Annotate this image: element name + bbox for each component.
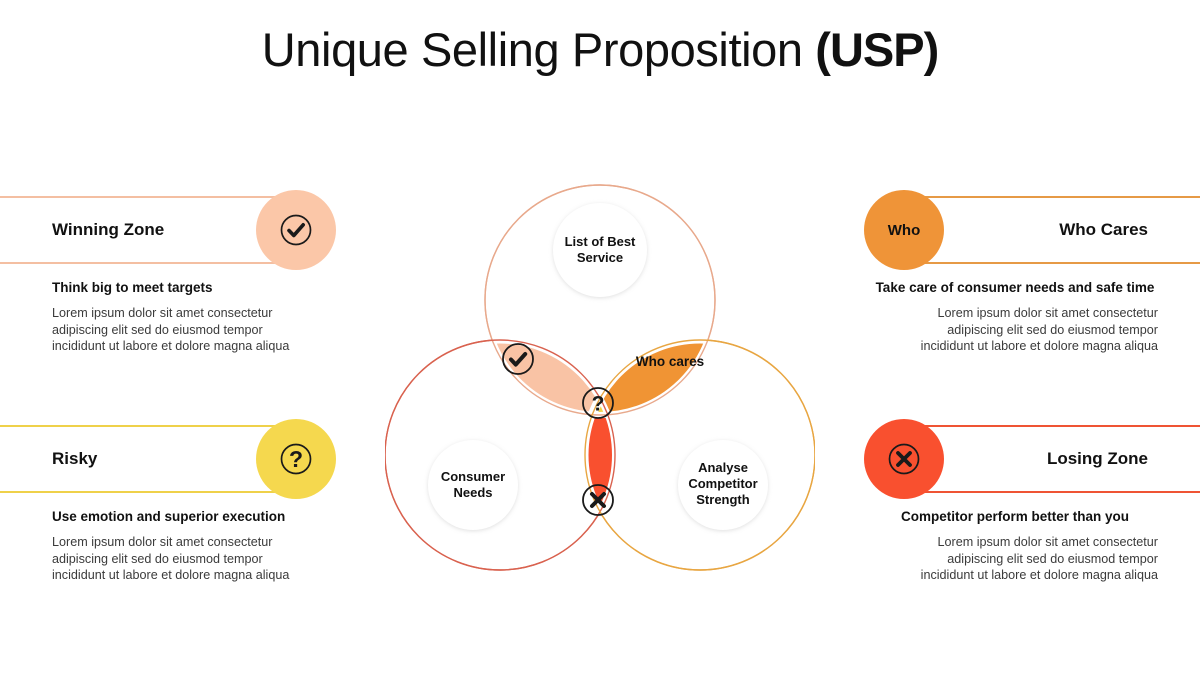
risky-body: Lorem ipsum dolor sit amet consectetur a… — [52, 534, 370, 584]
losing-zone-badge[interactable] — [864, 419, 944, 499]
winning-zone-badge[interactable] — [256, 190, 336, 270]
who-cares-badge-label: Who — [888, 222, 920, 239]
rule-bottom — [908, 262, 1200, 264]
rule-top — [908, 196, 1200, 198]
who-cares-subhead: Take care of consumer needs and safe tim… — [830, 280, 1200, 295]
venn-node-right-line3: Strength — [696, 492, 750, 507]
who-cares-body: Lorem ipsum dolor sit amet consectetur a… — [830, 305, 1158, 355]
venn-node-left-line1: Consumer — [441, 469, 505, 484]
winning-zone-subhead: Think big to meet targets — [52, 280, 370, 295]
page-title-main: Unique Selling Proposition — [262, 23, 816, 76]
who-cares-badge[interactable]: Who — [864, 190, 944, 270]
venn-node-top-line2: Service — [577, 250, 623, 265]
svg-text:?: ? — [592, 393, 605, 416]
risky-header: Risky ? — [0, 425, 370, 493]
x-circle-icon — [887, 442, 921, 476]
who-cares-title: Who Cares — [1059, 196, 1148, 264]
venn-node-right-line2: Competitor — [688, 476, 757, 491]
rule-bottom — [0, 491, 292, 493]
info-block-who-cares: Who Cares Who Take care of consumer need… — [830, 196, 1200, 355]
question-circle-icon: ? — [279, 442, 313, 476]
winning-zone-body: Lorem ipsum dolor sit amet consectetur a… — [52, 305, 370, 355]
svg-text:?: ? — [289, 446, 303, 472]
winning-zone-header: Winning Zone — [0, 196, 370, 264]
losing-zone-title: Losing Zone — [1047, 425, 1148, 493]
losing-zone-header: Losing Zone — [830, 425, 1200, 493]
who-cares-header: Who Cares Who — [830, 196, 1200, 264]
info-block-losing-zone: Losing Zone Competitor perform better th… — [830, 425, 1200, 584]
risky-title: Risky — [52, 425, 97, 493]
venn-node-left-line2: Needs — [453, 485, 492, 500]
venn-diagram: List of Best Service Consumer Needs Anal… — [385, 165, 815, 595]
risky-subhead: Use emotion and superior execution — [52, 509, 370, 524]
page-title-bold: (USP) — [815, 23, 938, 76]
losing-zone-body: Lorem ipsum dolor sit amet consectetur a… — [830, 534, 1158, 584]
losing-zone-subhead: Competitor perform better than you — [830, 509, 1200, 524]
venn-node-top-line1: List of Best — [565, 234, 636, 249]
venn-lens-label-who-cares: Who cares — [636, 354, 704, 369]
page-title: Unique Selling Proposition (USP) — [0, 22, 1200, 77]
winning-zone-title: Winning Zone — [52, 196, 164, 264]
risky-badge[interactable]: ? — [256, 419, 336, 499]
rule-top — [0, 425, 292, 427]
info-block-risky: Risky ? Use emotion and superior executi… — [0, 425, 370, 584]
info-block-winning-zone: Winning Zone Think big to meet targets L… — [0, 196, 370, 355]
check-circle-icon — [279, 213, 313, 247]
venn-node-right-line1: Analyse — [698, 460, 748, 475]
